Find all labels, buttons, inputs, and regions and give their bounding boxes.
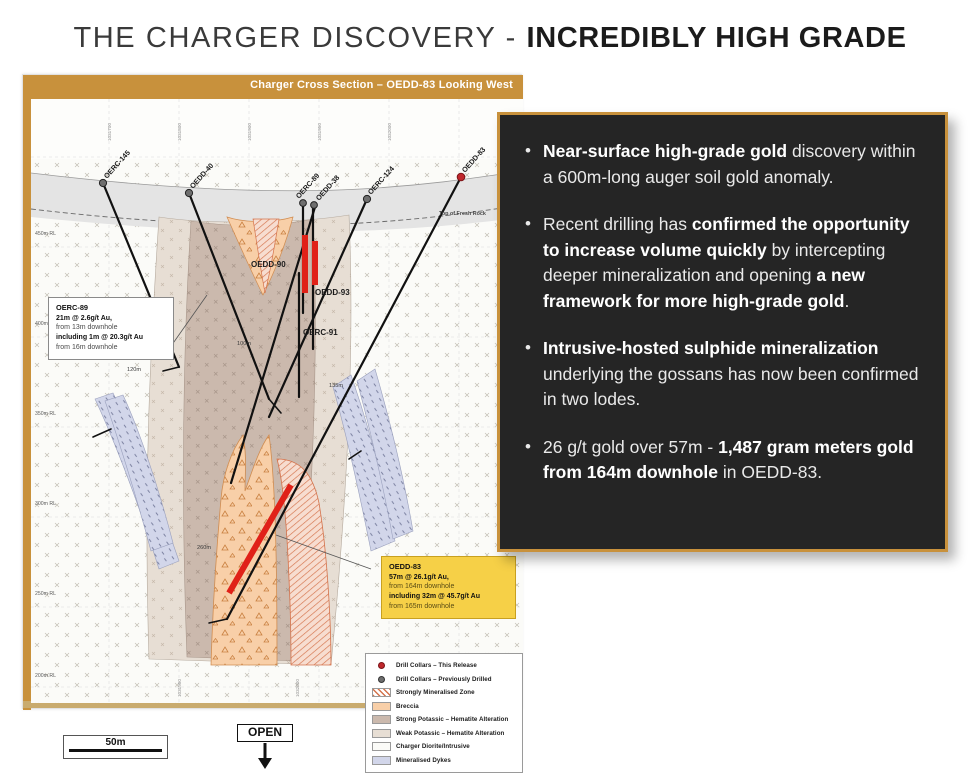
inner-hole-label: OERC-91 [303,328,338,337]
callout-line-2: from 13m downhole [56,323,166,333]
callout-line-4: from 16m downhole [56,343,166,353]
legend-item: Mineralised Dykes [372,754,516,768]
legend-label: Strongly Mineralised Zone [396,689,475,696]
figure-header-band: Charger Cross Section – OEDD-83 Looking … [23,75,523,99]
cross-section-figure: Charger Cross Section – OEDD-83 Looking … [22,74,522,709]
coordinate-label: 1031950 [317,123,322,141]
list-item: Near-surface high-grade gold discovery w… [522,139,919,190]
depth-tick-label: 260m [197,545,211,551]
mineralised-dykes-swatch-icon [372,756,391,765]
scale-bar-label: 50m [64,736,167,749]
map-legend: Drill Collars – This Release Drill Colla… [365,653,523,773]
strong-potassic-swatch-icon [372,715,391,724]
legend-item: Strong Potassic – Hematite Alteration [372,713,516,727]
legend-label: Weak Potassic – Hematite Alteration [396,730,504,737]
rl-label: 250m RL [35,591,56,597]
callout-line-3: including 32m @ 45.7g/t Au [389,592,508,602]
drill-collar-previous-icon [372,675,391,684]
figure-left-rail [23,99,31,710]
callout-line-3: including 1m @ 20.3g/t Au [56,333,166,343]
depth-tick-label: 100m [237,341,251,347]
legend-item: Breccia [372,700,516,714]
list-item: Intrusive-hosted sulphide mineralization… [522,336,919,413]
legend-label: Mineralised Dykes [396,757,451,764]
callout-title: OEDD-83 [389,562,508,573]
callout-line-2: from 164m downhole [389,582,508,592]
top-of-fresh-rock-label: Top of Fresh Rock [439,211,486,217]
highlights-list: Near-surface high-grade gold discovery w… [522,139,919,486]
legend-label: Strong Potassic – Hematite Alteration [396,716,508,723]
weak-potassic-swatch-icon [372,729,391,738]
depth-tick-label: 120m [127,367,141,373]
legend-item: Drill Collars – Previously Drilled [372,673,516,687]
inner-hole-label: OEDD-90 [251,260,286,269]
callout-oedd-83: OEDD-83 57m @ 26.1g/t Au, from 164m down… [381,556,516,619]
list-item: 26 g/t gold over 57m - 1,487 gram meters… [522,435,919,486]
coordinate-label: 1031800 [177,123,182,141]
open-label-box: OPEN [237,724,293,742]
callout-line-1: 21m @ 2.6g/t Au, [56,314,166,324]
breccia-swatch-icon [372,702,391,711]
legend-item: Drill Collars – This Release [372,659,516,673]
scale-bar-line [69,749,162,752]
list-item: Recent drilling has confirmed the opport… [522,212,919,314]
figure-header-label: Charger Cross Section – OEDD-83 Looking … [250,79,513,91]
highlights-panel: Near-surface high-grade gold discovery w… [497,112,948,552]
legend-item: Weak Potassic – Hematite Alteration [372,727,516,741]
inner-hole-label: OEDD-93 [315,288,350,297]
rl-label: 300m RL [35,501,56,507]
drill-collar-this-release-icon [372,661,391,670]
rl-label: 200m RL [35,673,56,679]
legend-label: Drill Collars – This Release [396,662,477,669]
page-title-bold: INCREDIBLY HIGH GRADE [527,22,907,54]
callout-line-1: 57m @ 26.1g/t Au, [389,573,508,583]
callout-oerc-89: OERC-89 21m @ 2.6g/t Au, from 13m downho… [48,297,174,360]
coordinate-label: 1031900 [247,123,252,141]
rl-label: 450m RL [35,231,56,237]
legend-label: Breccia [396,703,419,710]
coordinate-label: 1032000 [295,679,300,697]
scale-bar: 50m [63,735,168,759]
coordinate-label: 1032000 [387,123,392,141]
legend-item: Strongly Mineralised Zone [372,686,516,700]
rl-label: 350m RL [35,411,56,417]
depth-tick-label: 135m [329,383,343,389]
callout-title: OERC-89 [56,303,166,314]
mineralised-zone-swatch-icon [372,688,391,697]
callout-line-4: from 165m downhole [389,602,508,612]
page-title-light: THE CHARGER DISCOVERY - [73,22,526,54]
page-title: THE CHARGER DISCOVERY - INCREDIBLY HIGH … [0,22,980,68]
legend-label: Drill Collars – Previously Drilled [396,676,492,683]
coordinate-label: 1031700 [107,123,112,141]
coordinate-label: 1031950 [177,679,182,697]
